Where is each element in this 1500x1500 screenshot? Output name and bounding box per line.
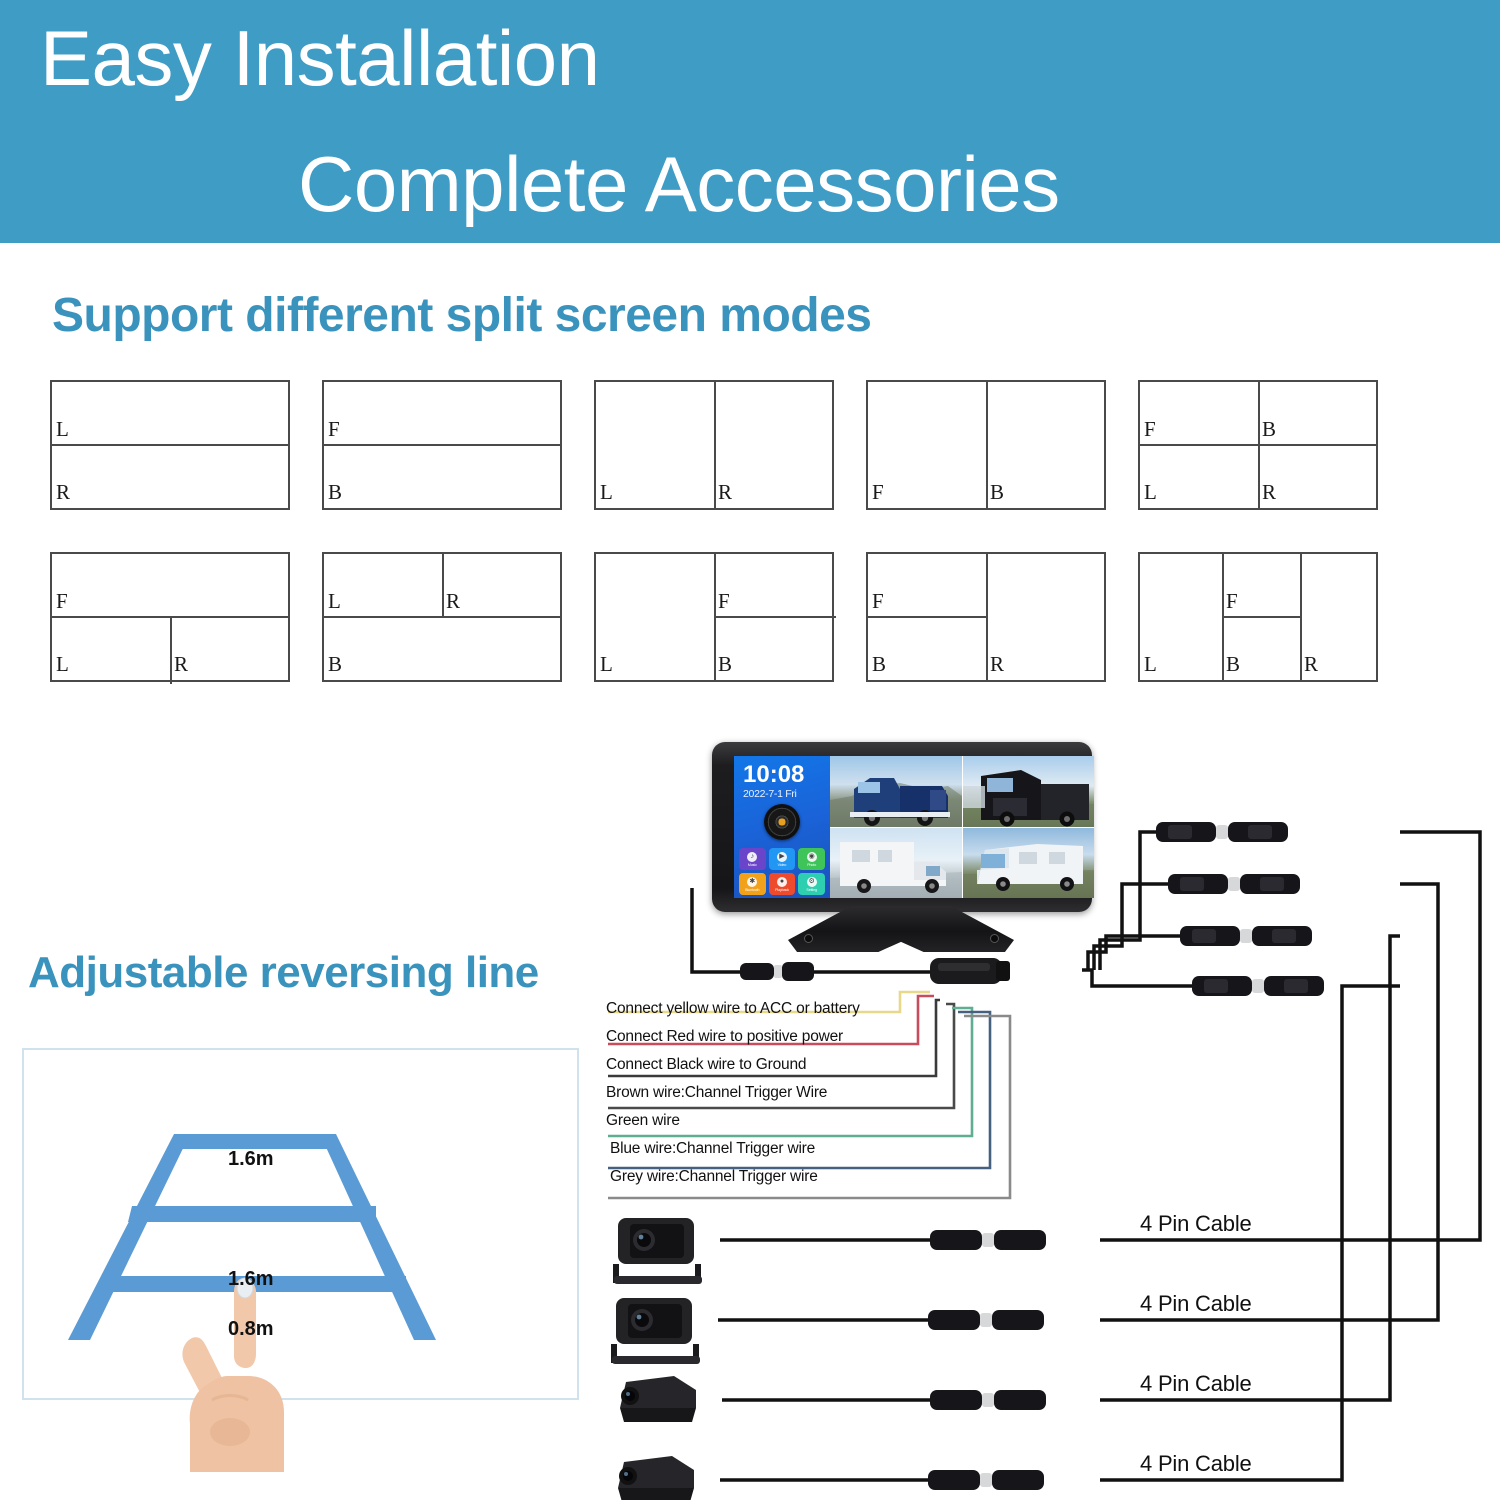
cell-label: F bbox=[328, 419, 340, 440]
cell-label: L bbox=[56, 419, 69, 440]
black-wire-label: Connect Black wire to Ground bbox=[606, 1056, 806, 1074]
split-screen-mode-grid: L R F B L R F B F B L R bbox=[0, 380, 1420, 710]
cell-label: F bbox=[1226, 591, 1238, 612]
side-camera-1 bbox=[620, 1376, 696, 1422]
green-wire-label: Green wire bbox=[606, 1112, 680, 1130]
camera-view-back[interactable] bbox=[963, 756, 1095, 827]
black-semi-truck-image bbox=[963, 756, 1095, 827]
guideline-right-rail bbox=[320, 1134, 436, 1340]
cell-label: F bbox=[872, 482, 884, 503]
cell-label: L bbox=[328, 591, 341, 612]
cell-label: L bbox=[600, 654, 613, 675]
split-mode-row-2: F L R L R B L F B F B R bbox=[0, 552, 1420, 692]
split-mode-f-beside-b[interactable]: F B bbox=[866, 380, 1106, 510]
cell-label: F bbox=[56, 591, 68, 612]
cell-label: F bbox=[872, 591, 884, 612]
camera-return-2 bbox=[1100, 884, 1438, 1320]
split-mode-l-left-fb-right[interactable]: L F B bbox=[594, 552, 834, 682]
channel-cable-2 bbox=[1094, 884, 1168, 970]
split-screen-section-title: Support different split screen modes bbox=[52, 288, 871, 343]
box-camera-1 bbox=[614, 1218, 702, 1284]
channel-cable-1 bbox=[1100, 832, 1156, 970]
wiring-hub bbox=[930, 958, 1010, 984]
connector-pair-4 bbox=[1192, 976, 1324, 996]
split-mode-row-1: L R F B L R F B F B L R bbox=[0, 380, 1420, 520]
connector-pair-3 bbox=[1180, 926, 1312, 946]
cable-3-label: 4 Pin Cable bbox=[1140, 1371, 1252, 1397]
connector-pair-1 bbox=[1156, 822, 1288, 842]
split-mode-f-top-lr-bottom[interactable]: F L R bbox=[50, 552, 290, 682]
pointing-hand-graphic bbox=[152, 1272, 332, 1472]
cell-label: R bbox=[990, 654, 1004, 675]
cable-connector-2 bbox=[928, 1310, 1044, 1330]
split-mode-f-over-b[interactable]: F B bbox=[322, 380, 562, 510]
grey-wire-label: Grey wire:Channel Trigger wire bbox=[610, 1168, 818, 1186]
connector-pair-2 bbox=[1168, 874, 1300, 894]
header-title-line-2: Complete Accessories bbox=[298, 140, 1060, 228]
split-mode-lr-top-b-bottom[interactable]: L R B bbox=[322, 552, 562, 682]
split-mode-l-over-r[interactable]: L R bbox=[50, 380, 290, 510]
clock-time: 10:08 bbox=[743, 763, 804, 787]
side-camera-2 bbox=[618, 1456, 694, 1500]
header-title-line-1: Easy Installation bbox=[40, 14, 599, 102]
cell-label: R bbox=[174, 654, 188, 675]
yellow-wire-label: Connect yellow wire to ACC or battery bbox=[606, 1000, 860, 1018]
guideline-bar-middle bbox=[128, 1206, 376, 1222]
reversing-line-panel[interactable] bbox=[22, 1048, 579, 1400]
cell-label: B bbox=[328, 482, 342, 503]
hub-inline-connector bbox=[740, 962, 814, 981]
red-wire-label: Connect Red wire to positive power bbox=[606, 1028, 843, 1046]
cell-label: L bbox=[600, 482, 613, 503]
distance-label-middle: 1.6m bbox=[228, 1268, 274, 1291]
cell-label: F bbox=[1144, 419, 1156, 440]
cable-2-label: 4 Pin Cable bbox=[1140, 1291, 1252, 1317]
reversing-line-section-title: Adjustable reversing line bbox=[28, 948, 539, 998]
split-mode-l-fb-r[interactable]: L F B R bbox=[1138, 552, 1378, 682]
cell-label: L bbox=[56, 654, 69, 675]
split-mode-quad[interactable]: F B L R bbox=[1138, 380, 1378, 510]
cell-label: R bbox=[1262, 482, 1276, 503]
split-mode-l-beside-r[interactable]: L R bbox=[594, 380, 834, 510]
cable-4-label: 4 Pin Cable bbox=[1140, 1451, 1252, 1477]
brown-wire-label: Brown wire:Channel Trigger Wire bbox=[606, 1084, 827, 1102]
cable-connector-4 bbox=[928, 1470, 1044, 1490]
cell-label: B bbox=[990, 482, 1004, 503]
cell-label: B bbox=[328, 654, 342, 675]
blue-wire-label: Blue wire:Channel Trigger wire bbox=[610, 1140, 815, 1158]
cell-label: B bbox=[718, 654, 732, 675]
cell-label: B bbox=[1226, 654, 1240, 675]
distance-label-bottom: 0.8m bbox=[228, 1318, 274, 1341]
camera-view-front[interactable] bbox=[830, 756, 962, 827]
distance-label-top: 1.6m bbox=[228, 1148, 274, 1171]
cell-label: L bbox=[1144, 654, 1157, 675]
box-camera-2 bbox=[612, 1298, 700, 1364]
cell-label: R bbox=[446, 591, 460, 612]
monitor-power-cable bbox=[692, 888, 930, 972]
cell-label: R bbox=[56, 482, 70, 503]
cell-label: R bbox=[1304, 654, 1318, 675]
wiring-diagram bbox=[600, 820, 1500, 1500]
cell-label: B bbox=[1262, 419, 1276, 440]
cell-label: F bbox=[718, 591, 730, 612]
split-mode-fb-left-r-right[interactable]: F B R bbox=[866, 552, 1106, 682]
cable-connector-3 bbox=[930, 1390, 1046, 1410]
cable-connector-1 bbox=[930, 1230, 1046, 1250]
cell-label: B bbox=[872, 654, 886, 675]
blue-semi-truck-image bbox=[830, 756, 962, 827]
camera-return-3 bbox=[1100, 936, 1400, 1400]
cable-1-label: 4 Pin Cable bbox=[1140, 1211, 1252, 1237]
cell-label: L bbox=[1144, 482, 1157, 503]
header-banner: Easy Installation Complete Accessories bbox=[0, 0, 1500, 243]
guideline-bar-top bbox=[174, 1134, 336, 1149]
clock-date: 2022-7-1 Fri bbox=[743, 789, 797, 800]
cell-label: R bbox=[718, 482, 732, 503]
channel-cable-4 bbox=[1082, 970, 1192, 986]
